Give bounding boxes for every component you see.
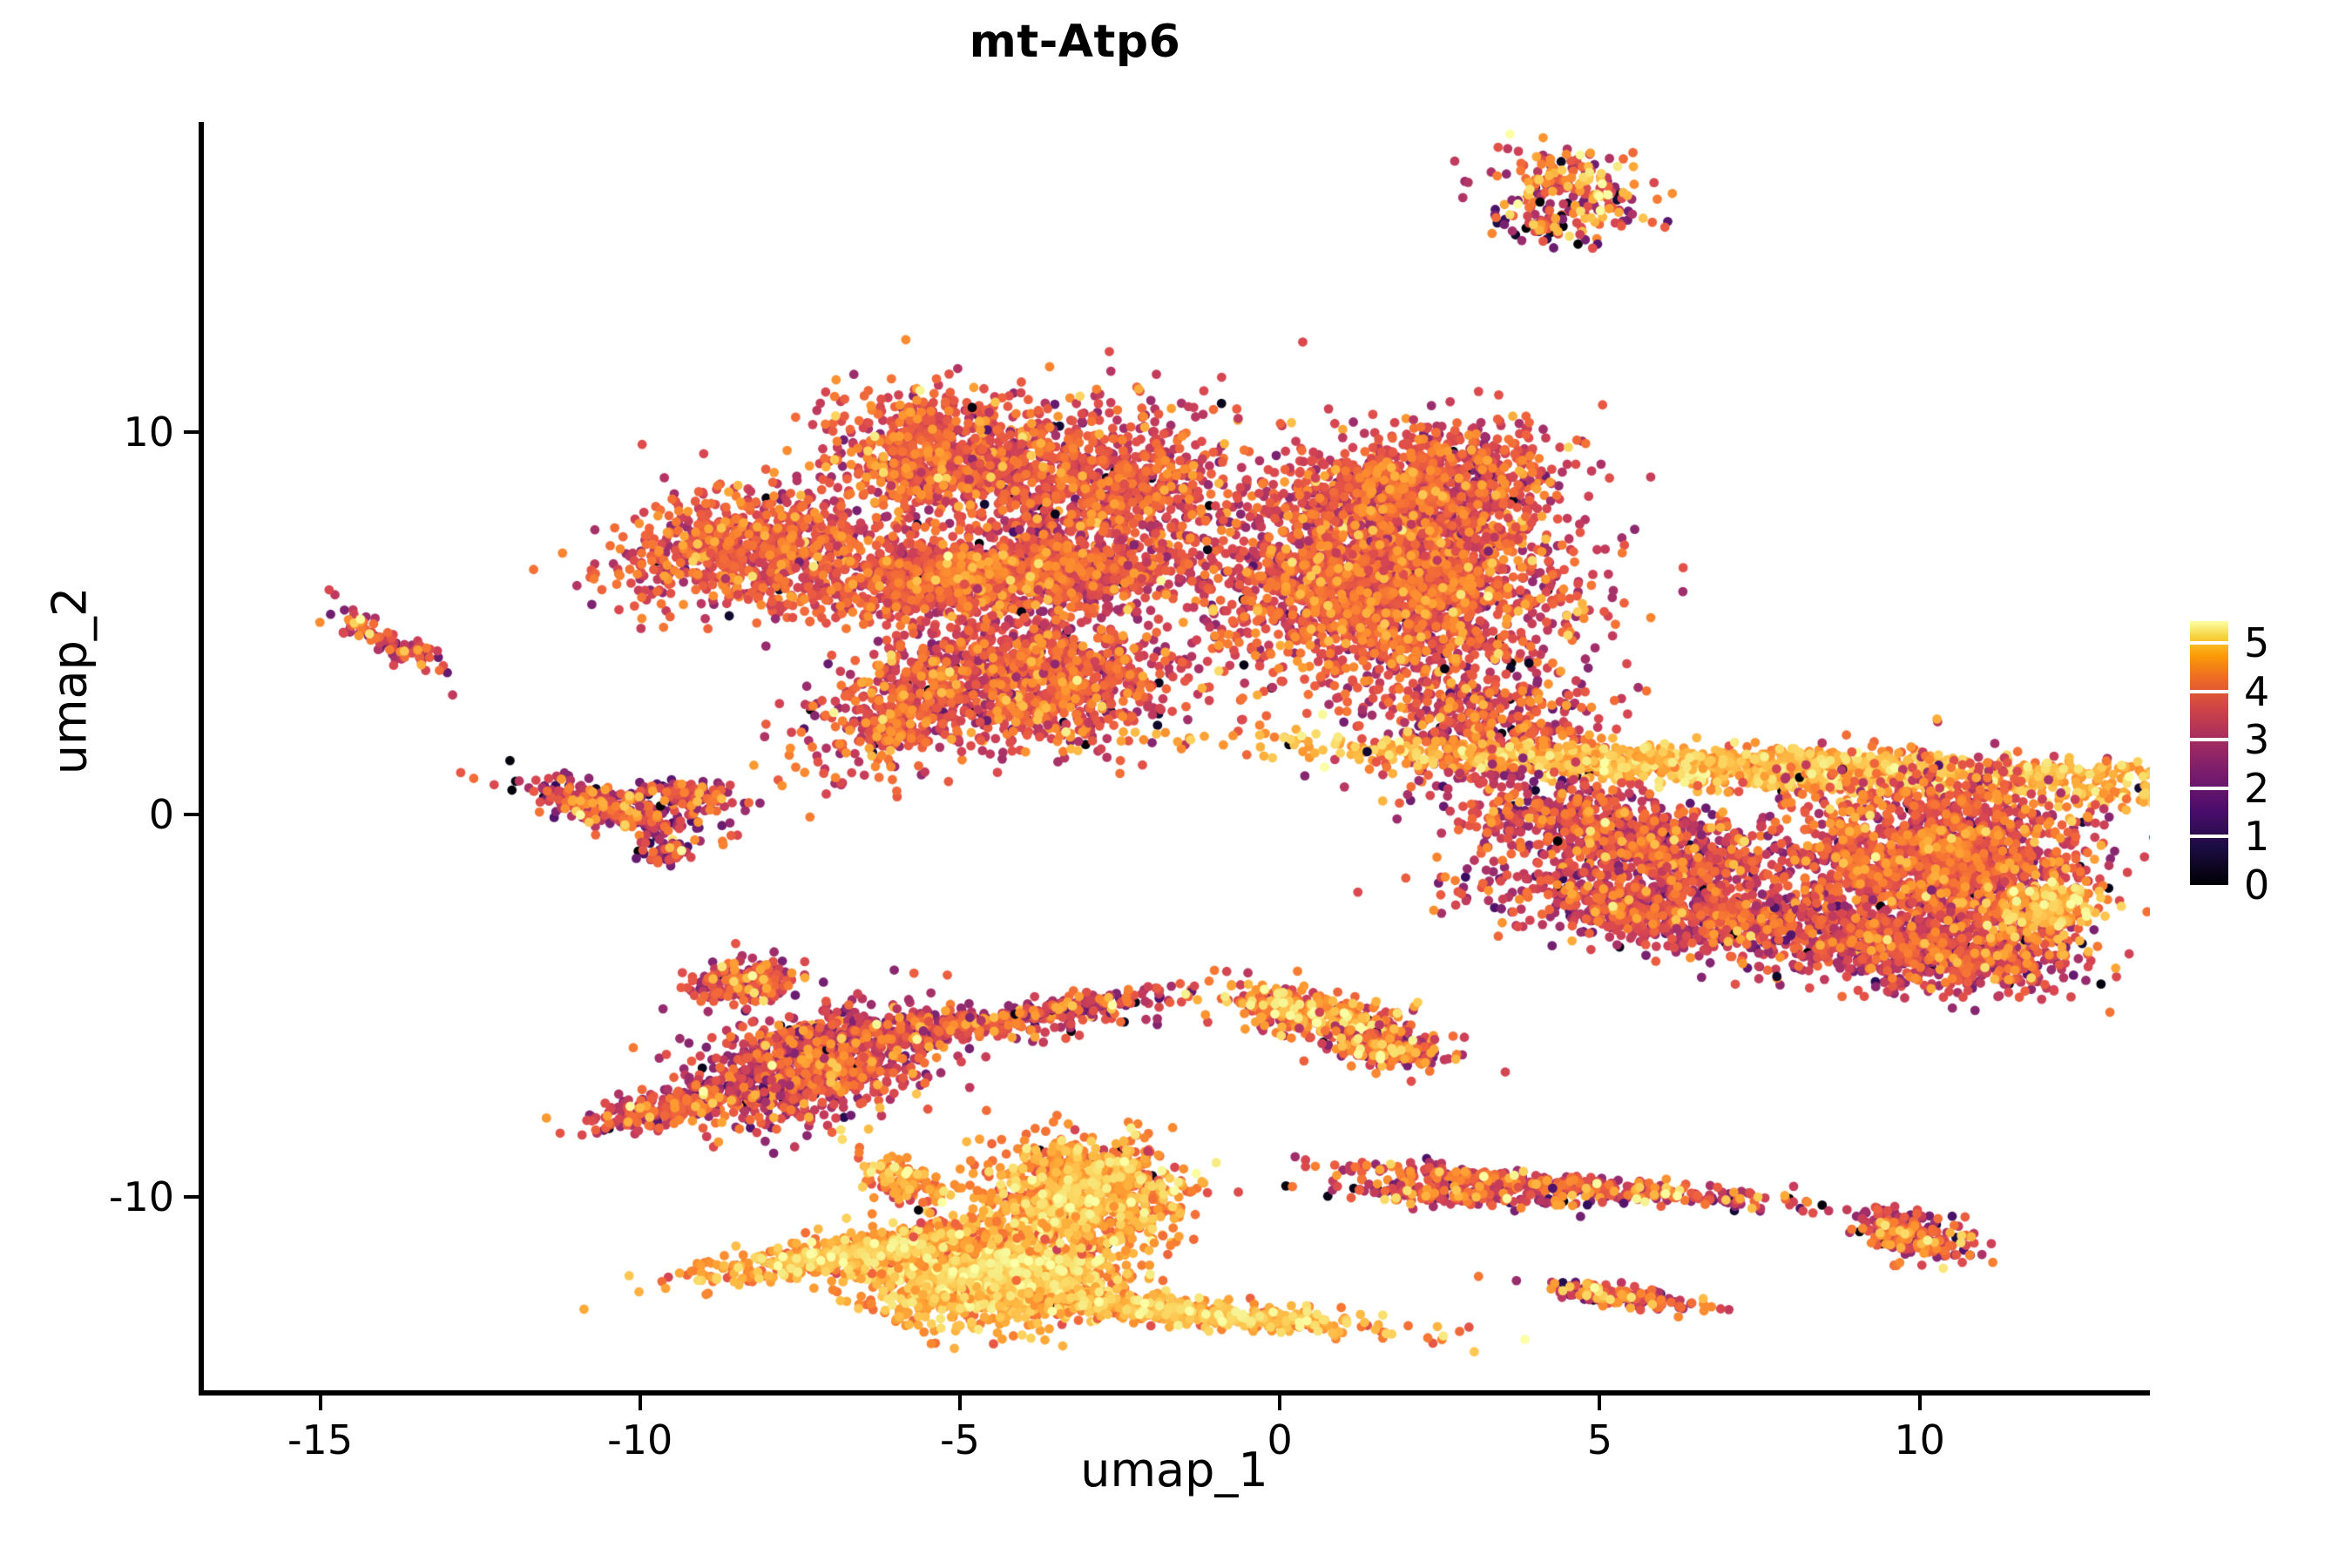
- x-tick-mark: [958, 1396, 962, 1410]
- colorbar-tick-label: 4: [2244, 668, 2269, 715]
- y-tick-label: -10: [109, 1173, 174, 1220]
- colorbar-tick-label: 1: [2244, 813, 2269, 860]
- colorbar-tick-mark: [2190, 690, 2228, 693]
- x-tick-mark: [319, 1396, 322, 1410]
- y-tick-label: 0: [149, 791, 174, 838]
- plot-axes: -15-10-50510 -10010: [199, 122, 2150, 1396]
- scatter-plot-canvas: [199, 122, 2150, 1396]
- colorbar-tick-label: 3: [2244, 716, 2269, 763]
- axis-spine-left: [199, 122, 204, 1396]
- y-tick-mark: [184, 813, 199, 816]
- colorbar-tick-mark: [2190, 835, 2228, 838]
- colorbar-gradient: [2190, 621, 2228, 885]
- axis-spine-bottom: [199, 1390, 2150, 1396]
- colorbar-tick-mark: [2190, 738, 2228, 741]
- y-axis-label: umap_2: [43, 71, 98, 1291]
- x-tick-mark: [1278, 1396, 1281, 1410]
- y-tick-label: 10: [123, 409, 174, 456]
- colorbar-tick-label: 5: [2244, 619, 2269, 666]
- x-tick-mark: [639, 1396, 642, 1410]
- colorbar-tick-mark: [2190, 787, 2228, 790]
- colorbar-tick-mark: [2190, 641, 2228, 645]
- colorbar: 012345: [2190, 621, 2338, 891]
- colorbar-tick-label: 2: [2244, 765, 2269, 812]
- y-tick-mark: [184, 1195, 199, 1199]
- x-axis-label: umap_1: [199, 1443, 2150, 1497]
- x-tick-mark: [1598, 1396, 1601, 1410]
- page-title: mt-Atp6: [0, 16, 2150, 68]
- y-tick-mark: [184, 430, 199, 434]
- x-tick-mark: [1918, 1396, 1922, 1410]
- colorbar-tick-label: 0: [2244, 862, 2269, 909]
- umap-scatter-figure: mt-Atp6 -15-10-50510 -10010 umap_1 umap_…: [0, 0, 2352, 1568]
